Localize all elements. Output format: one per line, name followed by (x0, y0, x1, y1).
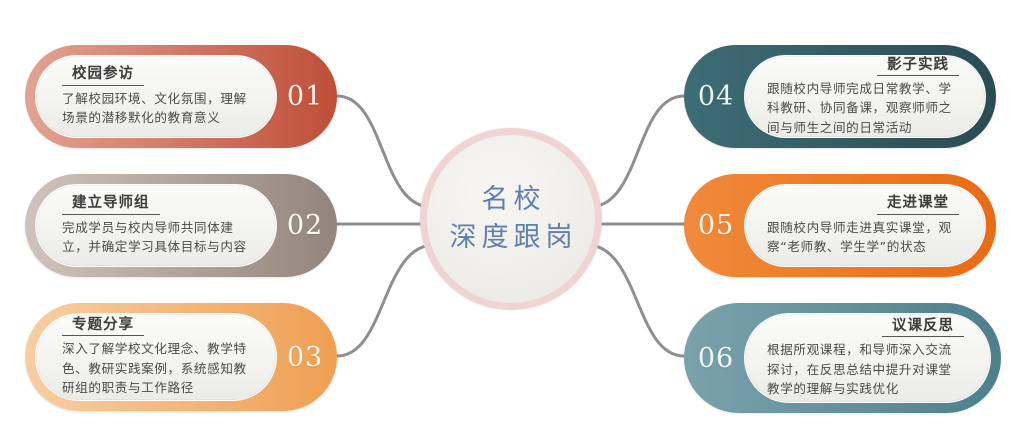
card-title: 议课反思 (882, 317, 964, 337)
card-shadow-practice[interactable]: 影子实践 跟随校内导师完成日常教学、学科教研、协同备课，观察师师之间与师生之间的… (684, 45, 996, 148)
card-title: 影子实践 (877, 56, 959, 76)
card-number: 04 (684, 81, 744, 112)
card-campus-visit[interactable]: 校园参访 了解校园环境、文化氛围，理解场景的潜移默化的教育意义 01 (25, 45, 337, 148)
card-panel: 走进课堂 跟随校内导师走进真实课堂，观察“老师教、学生学”的状态 (744, 184, 986, 267)
card-mentor-group[interactable]: 建立导师组 完成学员与校内导师共同体建立，并确定学习具体目标与内容 02 (25, 174, 337, 277)
card-title: 建立导师组 (62, 194, 160, 214)
card-title: 专题分享 (62, 316, 144, 336)
card-panel: 影子实践 跟随校内导师完成日常教学、学科教研、协同备课，观察师师之间与师生之间的… (744, 55, 986, 138)
connector-line-03 (337, 245, 432, 356)
card-body: 深入了解学校文化理念、教学特色、教研实践案例，系统感知教研组的职责与工作路径 (62, 339, 254, 398)
card-lesson-reflection[interactable]: 议课反思 根据所观课程，和导师深入交流探讨，在反思总结中提升对课堂教学的理解与实… (684, 303, 1001, 413)
center-hub[interactable]: 名校 深度跟岗 (420, 128, 602, 310)
card-panel: 专题分享 深入了解学校文化理念、教学特色、教研实践案例，系统感知教研组的职责与工… (35, 313, 277, 401)
card-title: 走进课堂 (877, 194, 959, 214)
center-title-line2: 深度跟岗 (445, 219, 578, 257)
connector-line-04 (591, 96, 684, 207)
card-number: 02 (277, 210, 337, 241)
card-body: 了解校园环境、文化氛围，理解场景的潜移默化的教育意义 (62, 89, 254, 128)
card-body: 完成学员与校内导师共同体建立，并确定学习具体目标与内容 (62, 218, 254, 257)
infographic-canvas: 校园参访 了解校园环境、文化氛围，理解场景的潜移默化的教育意义 01 建立导师组… (0, 0, 1020, 428)
card-number: 05 (684, 210, 744, 241)
card-number: 01 (277, 81, 337, 112)
card-number: 06 (684, 343, 744, 374)
connector-line-06 (589, 245, 684, 356)
card-topic-sharing[interactable]: 专题分享 深入了解学校文化理念、教学特色、教研实践案例，系统感知教研组的职责与工… (25, 303, 337, 411)
card-body: 跟随校内导师走进真实课堂，观察“老师教、学生学”的状态 (767, 218, 959, 257)
card-panel: 校园参访 了解校园环境、文化氛围，理解场景的潜移默化的教育意义 (35, 55, 277, 138)
card-body: 跟随校内导师完成日常教学、学科教研、协同备课，观察师师之间与师生之间的日常活动 (767, 79, 959, 138)
connector-line-01 (337, 96, 430, 207)
card-body: 根据所观课程，和导师深入交流探讨，在反思总结中提升对课堂教学的理解与实践优化 (767, 340, 964, 399)
card-panel: 议课反思 根据所观课程，和导师深入交流探讨，在反思总结中提升对课堂教学的理解与实… (744, 313, 991, 403)
card-number: 03 (277, 342, 337, 373)
center-title-line1: 名校 (477, 181, 546, 219)
card-enter-classroom[interactable]: 走进课堂 跟随校内导师走进真实课堂，观察“老师教、学生学”的状态 05 (684, 174, 996, 277)
card-title: 校园参访 (62, 65, 144, 85)
card-panel: 建立导师组 完成学员与校内导师共同体建立，并确定学习具体目标与内容 (35, 184, 277, 267)
